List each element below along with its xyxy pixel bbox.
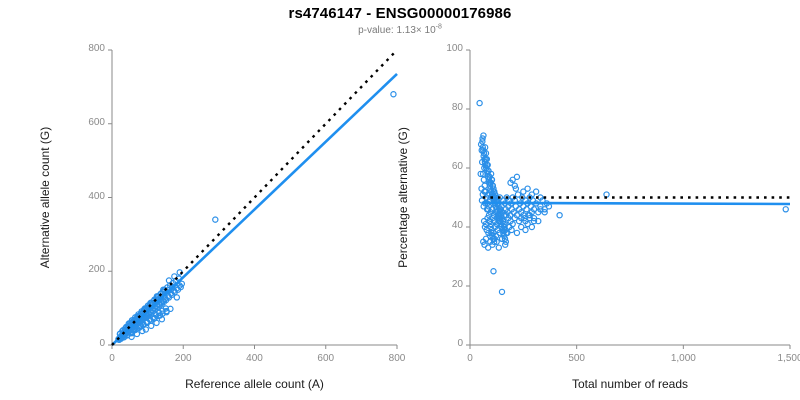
y-tick-label: 40 (408, 220, 463, 231)
x-tick-label: 1,500 (760, 353, 800, 364)
data-point (514, 230, 519, 235)
data-point (523, 227, 528, 232)
data-point (499, 289, 504, 294)
y-tick-label: 400 (50, 191, 105, 202)
y-tick-label: 800 (50, 43, 105, 54)
data-point (529, 224, 534, 229)
data-point (783, 207, 788, 212)
data-point (491, 269, 496, 274)
data-point (477, 101, 482, 106)
data-point (154, 320, 159, 325)
x-tick-label: 200 (153, 353, 213, 364)
right-fit-line (482, 203, 790, 204)
data-point (525, 186, 530, 191)
data-point (557, 213, 562, 218)
panel-percentage-alternative: 02040608010005001,0001,500Total number o… (400, 0, 800, 400)
left-reference-line (112, 50, 397, 345)
y-tick-label: 80 (408, 102, 463, 113)
x-tick-label: 0 (82, 353, 142, 364)
chart-page: rs4746147 - ENSG00000176986 p-value: 1.1… (0, 0, 800, 400)
y-tick-label: 200 (50, 264, 105, 275)
panel-allele-count: 02004006008000200400600800Reference alle… (0, 0, 400, 400)
data-point (213, 217, 218, 222)
left-x-axis-title: Reference allele count (A) (112, 377, 397, 391)
left-scatter-points (116, 92, 396, 343)
data-point (514, 174, 519, 179)
x-tick-label: 0 (440, 353, 500, 364)
y-tick-label: 60 (408, 161, 463, 172)
x-tick-label: 500 (547, 353, 607, 364)
y-tick-label: 600 (50, 117, 105, 128)
y-tick-label: 0 (408, 338, 463, 349)
y-tick-label: 0 (50, 338, 105, 349)
x-tick-label: 1,000 (653, 353, 713, 364)
data-point (149, 323, 154, 328)
left-y-axis-title: Alternative allele count (G) (38, 50, 52, 345)
data-point (174, 295, 179, 300)
y-tick-label: 20 (408, 279, 463, 290)
right-x-axis-title: Total number of reads (470, 377, 790, 391)
x-tick-label: 400 (225, 353, 285, 364)
data-point (482, 183, 487, 188)
x-tick-label: 600 (296, 353, 356, 364)
right-y-axis-title: Percentage alternative (G) (396, 50, 410, 345)
data-point (528, 204, 533, 209)
left-fit-line (112, 74, 397, 345)
data-point (534, 189, 539, 194)
data-point (496, 245, 501, 250)
y-tick-label: 100 (408, 43, 463, 54)
